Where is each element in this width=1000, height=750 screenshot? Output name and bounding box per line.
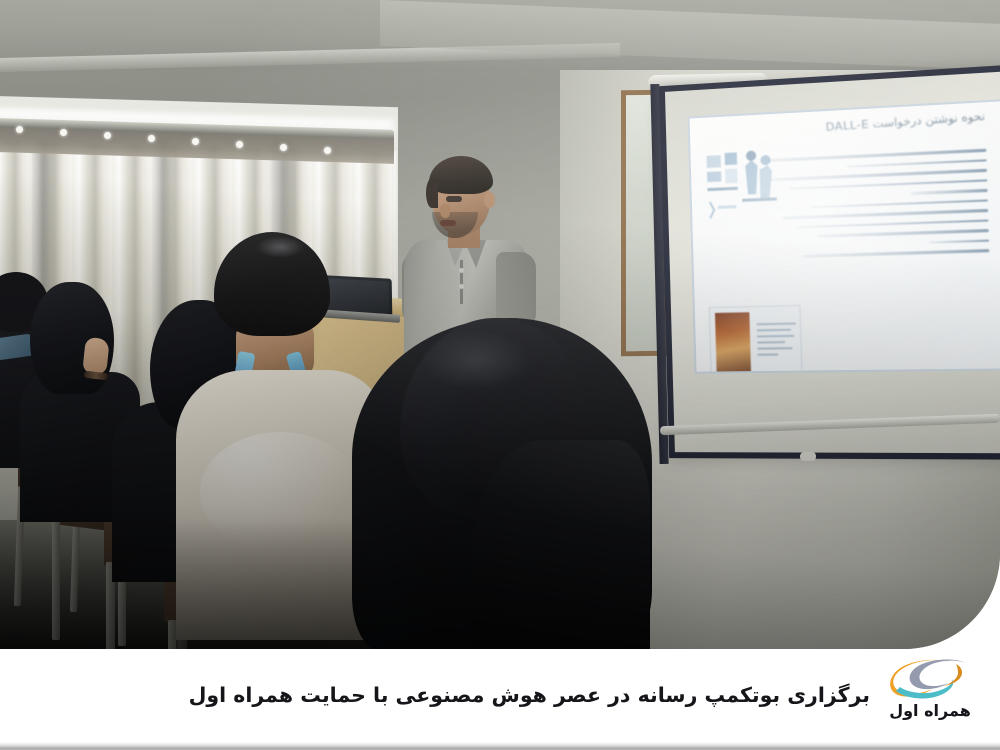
shirt-button	[459, 268, 464, 273]
slide-poster-thumbnail	[709, 305, 803, 374]
projector-screen: نحوه نوشتن درخواست DALL-E	[659, 64, 1000, 460]
mci-logo: همراه اول	[878, 657, 982, 739]
bottom-divider	[0, 742, 1000, 750]
curtain-ring	[192, 138, 199, 145]
presenter-ear	[484, 192, 495, 208]
presenter-right-sleeve	[496, 252, 536, 328]
presenter-shirt-placket	[460, 260, 463, 304]
hair-highlight	[256, 236, 304, 258]
projector-screen-knob	[800, 452, 816, 462]
curtain-ring	[60, 129, 67, 136]
slide-title: نحوه نوشتن درخواست DALL-E	[826, 109, 986, 134]
presenter-mouth	[440, 220, 456, 226]
presenter-hair-side	[426, 178, 438, 208]
curtain-ring	[236, 141, 243, 148]
presenter-hair	[429, 156, 493, 194]
slide-poster-image	[715, 312, 751, 373]
curtain-ring	[148, 135, 155, 142]
caption-bar: برگزاری بوتکمپ رسانه در عصر هوش مصنوعی ب…	[0, 649, 1000, 742]
chair-leg	[52, 520, 60, 640]
chador-highlight	[420, 330, 530, 390]
presenter-eye	[446, 196, 462, 202]
audience-hand	[82, 337, 110, 375]
mci-logo-text: همراه اول	[878, 701, 982, 720]
photo-caption: برگزاری بوتکمپ رسانه در عصر هوش مصنوعی ب…	[189, 681, 870, 711]
curtain-ring	[280, 144, 287, 151]
slide-poster-caption-lines	[757, 323, 797, 368]
shirt-button	[459, 284, 464, 289]
projected-slide: نحوه نوشتن درخواست DALL-E	[687, 99, 1000, 374]
news-photo-card: نحوه نوشتن درخواست DALL-E	[0, 0, 1000, 750]
curtain-ring	[104, 132, 111, 139]
presenter-nose	[440, 204, 450, 218]
curtain-ring	[324, 147, 331, 154]
article-photo: نحوه نوشتن درخواست DALL-E	[0, 0, 1000, 649]
slide-bullet-lines	[763, 149, 989, 266]
mci-swoosh-icon	[886, 659, 974, 705]
curtain-ring	[16, 126, 23, 133]
chador-drape	[470, 440, 650, 649]
laptop-screen	[325, 278, 390, 313]
